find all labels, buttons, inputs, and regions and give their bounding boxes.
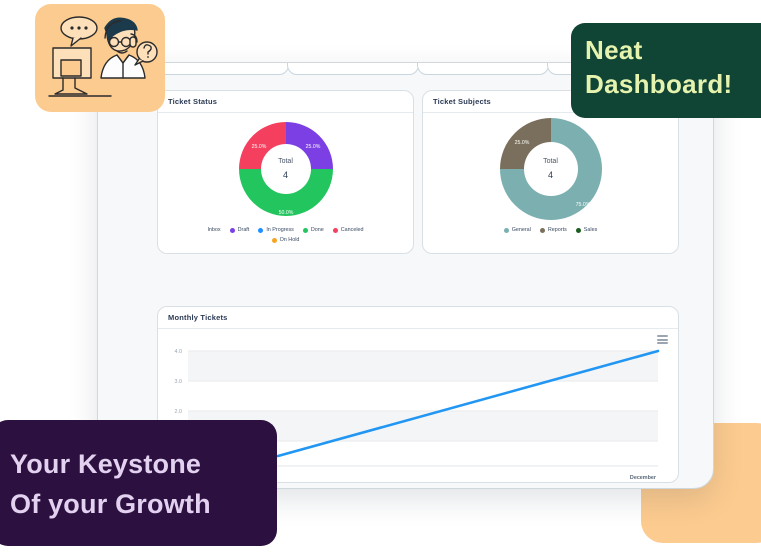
legend-item-done[interactable]: Done	[303, 227, 324, 233]
legend-item-in-progress[interactable]: In Progress	[258, 227, 294, 233]
legend-dot-icon-draft	[230, 228, 235, 233]
legend-label-in-progress: In Progress	[266, 227, 294, 233]
legend-item-draft[interactable]: Draft	[230, 227, 250, 233]
donut-slice-label-canceled: 25.0%	[251, 144, 266, 150]
legend-dot-icon-done	[303, 228, 308, 233]
legend-dot-icon-in-progress	[258, 228, 263, 233]
y-tick-label-0: 4.0	[175, 349, 183, 355]
keystone-growth-badge-line2: Of your Growth	[10, 484, 277, 524]
chart-band-1	[188, 351, 658, 381]
legend-dot-icon-canceled	[333, 228, 338, 233]
legend-item-inbox[interactable]: Inbox	[207, 227, 220, 233]
y-tick-label-2: 2.0	[175, 409, 183, 415]
donut-slice-done[interactable]	[239, 169, 333, 216]
ticket-status-card: Ticket Status 25.0% 50.0% 25.0%	[157, 90, 414, 254]
legend-dot-icon-on-hold	[272, 238, 277, 243]
legend-label-on-hold: On Hold	[280, 237, 300, 243]
ticket-subjects-donut: 75.0% 25.0% Total 4	[423, 113, 678, 225]
stat-card-1[interactable]	[157, 62, 289, 75]
ticket-subjects-title: Ticket Subjects	[433, 97, 491, 106]
support-agent-illustration	[35, 4, 165, 112]
neat-dashboard-badge: Neat Dashboard!	[571, 23, 761, 118]
donut-slice-label-draft: 25.0%	[305, 144, 320, 150]
ticket-status-card-body: 25.0% 50.0% 25.0% Total 4 Inbox	[158, 113, 413, 243]
x-tick-label-december: December	[630, 475, 657, 481]
legend-label-inbox: Inbox	[207, 227, 220, 233]
ticket-status-legend: Inbox Draft In Progress Done	[158, 225, 413, 243]
donut-slice-label-reports: 25.0%	[514, 140, 529, 146]
stat-card-3[interactable]	[417, 62, 549, 75]
neat-dashboard-badge-line2: Dashboard!	[585, 67, 761, 101]
keystone-growth-badge: Your Keystone Of your Growth	[0, 420, 277, 546]
ticket-subjects-donut-svg: 75.0% 25.0%	[491, 109, 611, 229]
stat-card-2[interactable]	[287, 62, 419, 75]
neat-dashboard-badge-line1: Neat	[585, 33, 761, 67]
legend-item-canceled[interactable]: Canceled	[333, 227, 364, 233]
screenshot-stage: Ticket Status 25.0% 50.0% 25.0%	[0, 0, 761, 554]
monthly-tickets-title: Monthly Tickets	[168, 313, 228, 322]
donut-slice-label-done: 50.0%	[278, 210, 293, 216]
legend-label-canceled: Canceled	[341, 227, 364, 233]
ticket-subjects-card-body: 75.0% 25.0% Total 4 General Re	[423, 113, 678, 233]
ticket-status-donut: 25.0% 50.0% 25.0% Total 4	[158, 113, 413, 225]
ticket-status-title: Ticket Status	[168, 97, 217, 106]
keystone-growth-badge-line1: Your Keystone	[10, 444, 277, 484]
legend-label-draft: Draft	[238, 227, 250, 233]
donut-slice-label-general: 75.0%	[575, 202, 590, 208]
monthly-tickets-card-header: Monthly Tickets	[158, 307, 678, 329]
legend-item-on-hold[interactable]: On Hold	[172, 237, 399, 243]
ticket-status-card-header: Ticket Status	[158, 91, 413, 113]
ticket-status-donut-svg: 25.0% 50.0% 25.0%	[230, 113, 342, 225]
legend-label-done: Done	[311, 227, 324, 233]
y-tick-label-1: 3.0	[175, 379, 183, 385]
support-agent-illustration-svg	[35, 4, 165, 112]
